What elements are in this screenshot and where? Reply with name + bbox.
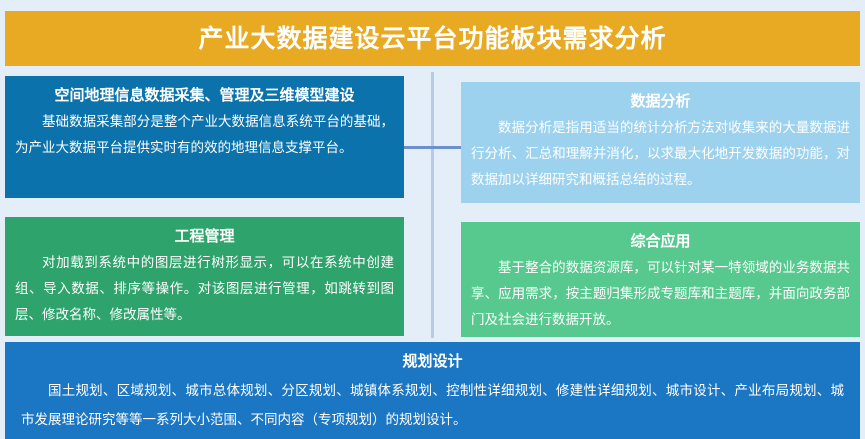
page-title: 产业大数据建设云平台功能板块需求分析 [198,26,666,51]
panel-body-engineering-management: 对加载到系统中的图层进行树形显示，可以在系统中创建组、导入数据、排序等操作。对该… [15,250,394,328]
panel-spatial-geo-information: 空间地理信息数据采集、管理及三维模型建设 基础数据采集部分是整个产业大数据信息系… [5,76,404,198]
panel-title-engineering-management: 工程管理 [15,224,394,248]
center-vertical-connector [431,72,434,338]
panel-planning-design: 规划设计 国土规划、区域规划、城市总体规划、分区规划、城镇体系规划、控制性详细规… [5,342,860,439]
panel-body-integrated-application: 基于整合的数据资源库，可以针对某一特领域的业务数据共享、应用需求，按主题归集形成… [471,255,850,333]
page-title-banner: 产业大数据建设云平台功能板块需求分析 [5,11,860,66]
panel-body-data-analysis: 数据分析是指用适当的统计分析方法对收集来的大量数据进行分析、汇总和理解并消化，以… [471,115,850,193]
panel-body-planning-design: 国土规划、区域规划、城市总体规划、分区规划、城镇体系规划、控制性详细规划、修建性… [21,377,844,435]
infographic-canvas: 产业大数据建设云平台功能板块需求分析 空间地理信息数据采集、管理及三维模型建设 … [0,0,865,439]
panel-body-spatial-geo-information: 基础数据采集部分是整个产业大数据信息系统平台的基础，为产业大数据平台提供实时有的… [15,109,394,161]
panel-engineering-management: 工程管理 对加载到系统中的图层进行树形显示，可以在系统中创建组、导入数据、排序等… [5,217,404,336]
panel-data-analysis: 数据分析 数据分析是指用适当的统计分析方法对收集来的大量数据进行分析、汇总和理解… [461,82,860,203]
panel-title-data-analysis: 数据分析 [471,89,850,113]
panel-title-planning-design: 规划设计 [21,348,844,374]
panel-title-spatial-geo-information: 空间地理信息数据采集、管理及三维模型建设 [15,83,394,107]
panel-integrated-application: 综合应用 基于整合的数据资源库，可以针对某一特领域的业务数据共享、应用需求，按主… [461,222,860,337]
center-horizontal-connector [404,146,462,149]
panel-title-integrated-application: 综合应用 [471,229,850,253]
